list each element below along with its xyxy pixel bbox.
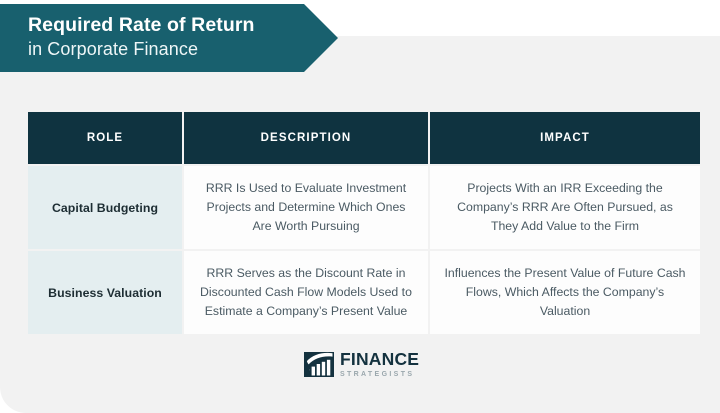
title-banner: Required Rate of Return in Corporate Fin… xyxy=(0,4,338,72)
comparison-table: ROLE DESCRIPTION IMPACT Capital Budgetin… xyxy=(26,110,702,336)
infographic-canvas: Required Rate of Return in Corporate Fin… xyxy=(0,0,720,413)
page-subtitle: in Corporate Finance xyxy=(28,38,308,61)
cell-impact: Projects With an IRR Exceeding the Compa… xyxy=(430,166,700,249)
table-row: Business Valuation RRR Serves as the Dis… xyxy=(28,251,700,334)
page-title: Required Rate of Return xyxy=(28,15,308,37)
cell-impact: Influences the Present Value of Future C… xyxy=(430,251,700,334)
logo-primary-text: FINANCE xyxy=(340,351,419,369)
cell-role: Capital Budgeting xyxy=(28,166,182,249)
brand-logo: FINANCE STRATEGISTS xyxy=(302,349,419,380)
comparison-table-wrapper: ROLE DESCRIPTION IMPACT Capital Budgetin… xyxy=(26,110,694,336)
logo-wordmark: FINANCE STRATEGISTS xyxy=(340,351,419,378)
table-header-row: ROLE DESCRIPTION IMPACT xyxy=(28,112,700,164)
finance-strategists-chart-arrow-icon xyxy=(302,349,336,380)
cell-role: Business Valuation xyxy=(28,251,182,334)
column-header-role: ROLE xyxy=(28,112,182,164)
logo-secondary-text: STRATEGISTS xyxy=(340,371,419,378)
table-row: Capital Budgeting RRR Is Used to Evaluat… xyxy=(28,166,700,249)
cell-description: RRR Serves as the Discount Rate in Disco… xyxy=(184,251,428,334)
column-header-impact: IMPACT xyxy=(430,112,700,164)
cell-description: RRR Is Used to Evaluate Investment Proje… xyxy=(184,166,428,249)
column-header-description: DESCRIPTION xyxy=(184,112,428,164)
